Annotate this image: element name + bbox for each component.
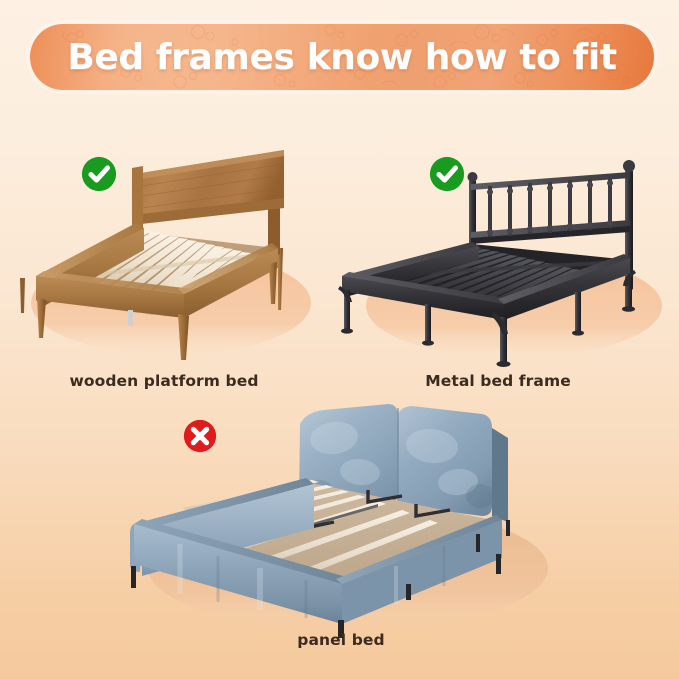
check-badge-metal <box>428 155 466 193</box>
leg-mid-right <box>575 292 581 332</box>
check-badge-icon <box>80 155 118 193</box>
caption-wooden-platform-bed: wooden platform bed <box>6 372 322 390</box>
cross-badge-panel <box>181 417 219 455</box>
finial-left <box>468 172 478 182</box>
leg-left <box>131 566 136 588</box>
panel-bed-svg <box>110 398 572 638</box>
header-banner: Bed frames know how to fit <box>30 24 654 90</box>
card-panel-bed: panel bed <box>110 398 572 670</box>
leg-right-rear <box>496 554 501 574</box>
center-support-foot <box>128 310 133 326</box>
wooden-bed-svg <box>6 128 322 368</box>
header-banner-ring: Bed frames know how to fit <box>26 20 658 94</box>
panel-bed-illustration <box>110 398 572 670</box>
page-title: Bed frames know how to fit <box>67 37 616 78</box>
caption-panel-bed: panel bed <box>110 631 572 649</box>
caption-metal-bed-frame: Metal bed frame <box>322 372 674 390</box>
leg-mid-left <box>425 304 431 342</box>
wooden-bed-illustration <box>6 128 322 400</box>
check-badge-icon <box>428 155 466 193</box>
metal-bed-illustration <box>322 128 674 400</box>
infographic-page: Bed frames know how to fit <box>0 0 679 679</box>
metal-bed-svg <box>322 128 674 368</box>
card-metal-bed-frame: Metal bed frame <box>322 128 674 400</box>
leg-mid-front <box>406 584 411 600</box>
card-wooden-platform-bed: wooden platform bed <box>6 128 322 400</box>
check-badge-wooden <box>80 155 118 193</box>
cross-badge-icon <box>181 417 219 455</box>
leg-headboard-right <box>506 520 510 536</box>
leg-back-right <box>476 534 480 552</box>
bed-leg-far-left <box>20 278 25 313</box>
headboard-side-wrap <box>492 428 508 522</box>
finial-right <box>623 160 635 172</box>
